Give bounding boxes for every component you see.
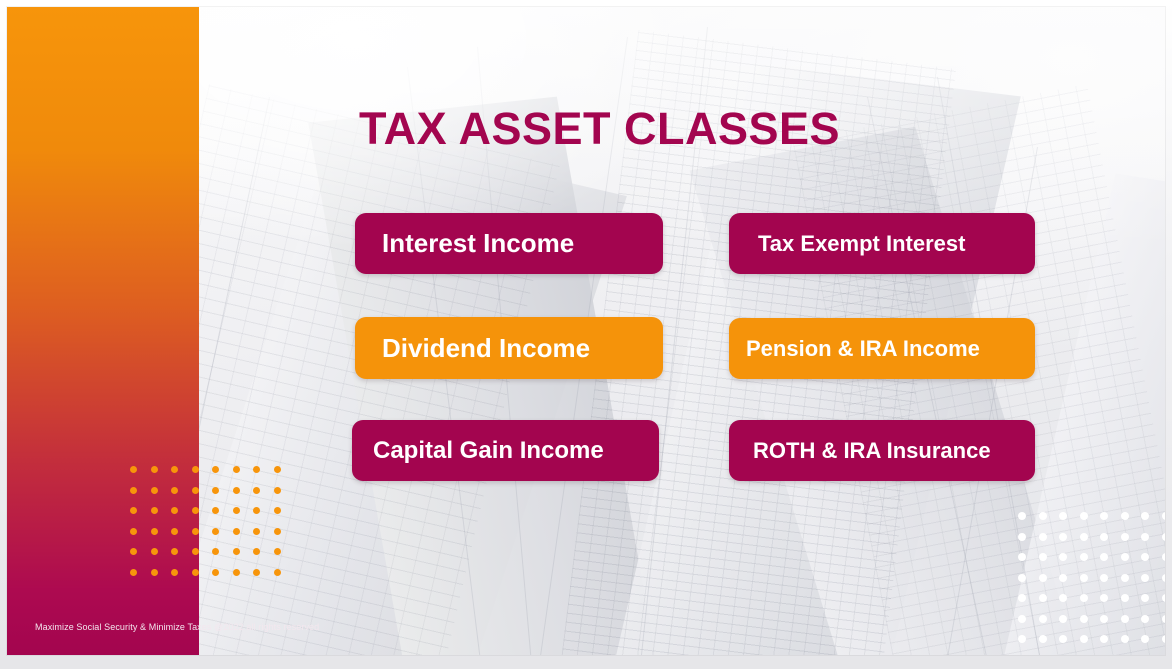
asset-class-tax-exempt-interest[interactable]: Tax Exempt Interest xyxy=(729,213,1035,274)
decorative-dot xyxy=(1039,574,1047,582)
asset-class-roth-ira-insurance[interactable]: ROTH & IRA Insurance xyxy=(729,420,1035,481)
decorative-dot xyxy=(233,466,240,473)
slide-canvas: TAX ASSET CLASSES Interest Income Divide… xyxy=(7,7,1165,655)
decorative-dot xyxy=(1141,635,1149,643)
decorative-dot xyxy=(192,466,199,473)
decorative-dot xyxy=(1121,553,1129,561)
decorative-dot xyxy=(171,487,178,494)
asset-class-label: Interest Income xyxy=(382,228,574,259)
asset-class-interest-income[interactable]: Interest Income xyxy=(355,213,663,274)
decorative-dot xyxy=(212,548,219,555)
decorative-dot xyxy=(253,548,260,555)
decorative-dot xyxy=(274,487,281,494)
decorative-dot xyxy=(1018,533,1026,541)
decorative-dot xyxy=(130,569,137,576)
decorative-dot xyxy=(1141,594,1149,602)
decorative-dot xyxy=(1018,594,1026,602)
decorative-dot xyxy=(253,569,260,576)
decorative-dot xyxy=(1100,635,1108,643)
decorative-dot xyxy=(130,548,137,555)
decorative-dot xyxy=(1018,512,1026,520)
decorative-dot xyxy=(171,507,178,514)
decorative-dot xyxy=(212,487,219,494)
decorative-dot xyxy=(151,487,158,494)
decorative-dot xyxy=(130,528,137,535)
asset-class-label: ROTH & IRA Insurance xyxy=(753,438,991,464)
decorative-dot xyxy=(171,569,178,576)
decorative-dot xyxy=(1100,574,1108,582)
decorative-dot xyxy=(274,548,281,555)
decorative-dot xyxy=(192,507,199,514)
decorative-dot xyxy=(233,548,240,555)
decorative-dot xyxy=(1059,533,1067,541)
decorative-dot xyxy=(1039,594,1047,602)
decorative-dot xyxy=(1080,533,1088,541)
decorative-dot xyxy=(171,466,178,473)
page-title: TAX ASSET CLASSES xyxy=(359,103,840,155)
decorative-dot xyxy=(1018,574,1026,582)
decorative-dot xyxy=(1141,553,1149,561)
decorative-dot xyxy=(1100,553,1108,561)
decorative-dot xyxy=(1018,635,1026,643)
decorative-dot xyxy=(1141,574,1149,582)
decorative-dot xyxy=(1162,533,1166,541)
asset-class-label: Capital Gain Income xyxy=(373,437,604,465)
decorative-dot xyxy=(1100,615,1108,623)
decorative-dot xyxy=(1141,615,1149,623)
decorative-dot xyxy=(1080,512,1088,520)
decorative-dot xyxy=(151,569,158,576)
decorative-dot xyxy=(1039,615,1047,623)
decorative-dot xyxy=(1059,594,1067,602)
asset-class-label: Tax Exempt Interest xyxy=(758,231,965,257)
decorative-dot xyxy=(1039,533,1047,541)
decorative-dot xyxy=(212,466,219,473)
decorative-dot xyxy=(212,569,219,576)
decorative-dot xyxy=(192,569,199,576)
decorative-dot xyxy=(233,487,240,494)
decorative-dot xyxy=(1121,615,1129,623)
decorative-dot xyxy=(1141,512,1149,520)
copyright-footer: Maximize Social Security & Minimize Taxe… xyxy=(35,622,319,632)
decorative-dot xyxy=(274,507,281,514)
decorative-dot xyxy=(274,466,281,473)
decorative-dot xyxy=(1100,594,1108,602)
asset-class-dividend-income[interactable]: Dividend Income xyxy=(355,317,663,379)
decorative-dot xyxy=(1162,635,1166,643)
decorative-dot xyxy=(1039,635,1047,643)
decorative-dot xyxy=(192,528,199,535)
decorative-dot xyxy=(171,528,178,535)
decorative-dot xyxy=(233,507,240,514)
decorative-dot xyxy=(151,528,158,535)
decorative-dot xyxy=(274,528,281,535)
decorative-dot xyxy=(192,548,199,555)
decorative-dot xyxy=(1100,512,1108,520)
decorative-dot xyxy=(233,528,240,535)
asset-class-pension-ira-income[interactable]: Pension & IRA Income xyxy=(729,318,1035,379)
decorative-dot xyxy=(1121,533,1129,541)
white-dot-pattern xyxy=(1018,512,1165,655)
decorative-dot xyxy=(130,507,137,514)
decorative-dot xyxy=(1080,574,1088,582)
decorative-dot xyxy=(1121,635,1129,643)
decorative-dot xyxy=(130,466,137,473)
decorative-dot xyxy=(1121,574,1129,582)
presentation-frame: TAX ASSET CLASSES Interest Income Divide… xyxy=(0,0,1172,669)
decorative-dot xyxy=(151,507,158,514)
decorative-dot xyxy=(1059,553,1067,561)
decorative-dot xyxy=(1018,615,1026,623)
decorative-dot xyxy=(1059,574,1067,582)
decorative-dot xyxy=(192,487,199,494)
asset-class-label: Dividend Income xyxy=(382,333,590,364)
decorative-dot xyxy=(1162,594,1166,602)
decorative-dot xyxy=(1121,594,1129,602)
decorative-dot xyxy=(130,487,137,494)
asset-class-capital-gain-income[interactable]: Capital Gain Income xyxy=(352,420,659,481)
decorative-dot xyxy=(1059,635,1067,643)
decorative-dot xyxy=(1059,512,1067,520)
decorative-dot xyxy=(274,569,281,576)
decorative-dot xyxy=(1018,553,1026,561)
decorative-dot xyxy=(1039,553,1047,561)
decorative-dot xyxy=(1162,615,1166,623)
decorative-dot xyxy=(171,548,178,555)
decorative-dot xyxy=(1162,553,1166,561)
asset-class-label: Pension & IRA Income xyxy=(746,336,980,362)
decorative-dot xyxy=(1121,512,1129,520)
decorative-dot xyxy=(1080,615,1088,623)
decorative-dot xyxy=(253,528,260,535)
decorative-dot xyxy=(1080,635,1088,643)
decorative-dot xyxy=(151,548,158,555)
decorative-dot xyxy=(1100,533,1108,541)
decorative-dot xyxy=(212,507,219,514)
decorative-dot xyxy=(233,569,240,576)
decorative-dot xyxy=(253,466,260,473)
decorative-dot xyxy=(1080,553,1088,561)
decorative-dot xyxy=(212,528,219,535)
decorative-dot xyxy=(1162,512,1166,520)
decorative-dot xyxy=(1141,533,1149,541)
orange-dot-pattern xyxy=(130,466,294,589)
decorative-dot xyxy=(1039,512,1047,520)
decorative-dot xyxy=(253,507,260,514)
decorative-dot xyxy=(1059,615,1067,623)
decorative-dot xyxy=(253,487,260,494)
decorative-dot xyxy=(1080,594,1088,602)
decorative-dot xyxy=(1162,574,1166,582)
decorative-dot xyxy=(151,466,158,473)
